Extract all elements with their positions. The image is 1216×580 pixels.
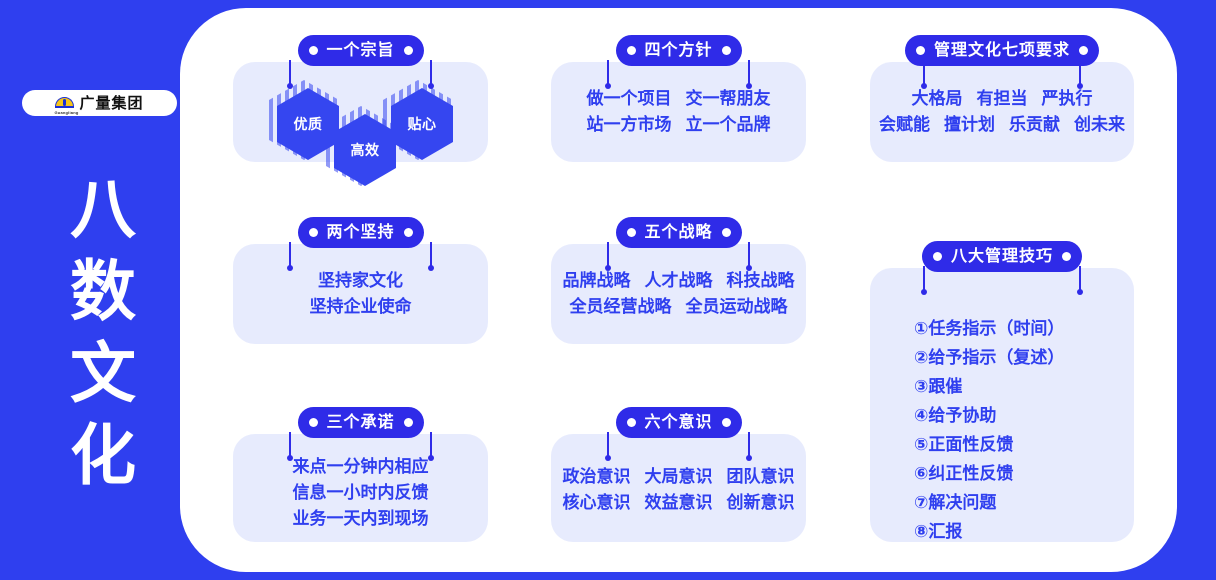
card-text: 科技战略 bbox=[727, 271, 795, 290]
card-title-label: 管理文化七项要求 bbox=[934, 43, 1070, 59]
brand-wordmark: 广量集团 bbox=[79, 96, 143, 111]
card-text: 创新意识 bbox=[727, 493, 795, 512]
badge-dot-right-icon bbox=[722, 228, 731, 237]
card-line: 来点一分钟内相应 bbox=[233, 454, 488, 480]
page-title-char-4: 化 bbox=[58, 414, 148, 496]
badge-dot-left-icon bbox=[626, 418, 635, 427]
card-title-label: 三个承诺 bbox=[326, 415, 394, 431]
badge-dot-right-icon bbox=[404, 418, 413, 427]
badge-dot-right-icon bbox=[1062, 252, 1071, 261]
card-title-six-awarenesses[interactable]: 六个意识 bbox=[615, 407, 741, 438]
list-item: ⑧汇报 bbox=[914, 517, 1064, 546]
card-line: 品牌战略人才战略科技战略 bbox=[551, 268, 806, 294]
logo-subtext: Guangliang bbox=[54, 110, 78, 115]
badge-dot-left-icon bbox=[626, 46, 635, 55]
connector-right bbox=[430, 60, 432, 86]
card-text: 坚持家文化 bbox=[318, 271, 403, 290]
list-item: ④给予协助 bbox=[914, 401, 1064, 430]
card-title-label: 五个战略 bbox=[644, 225, 712, 241]
card-two-persistences[interactable]: 两个坚持 坚持家文化 坚持企业使命 bbox=[233, 244, 488, 344]
card-three-promises[interactable]: 三个承诺 来点一分钟内相应 信息一小时内反馈 业务一天内到现场 bbox=[233, 434, 488, 542]
card-line: 业务一天内到现场 bbox=[233, 506, 488, 532]
connector-right bbox=[748, 60, 750, 86]
card-body: 政治意识大局意识团队意识 核心意识效益意识创新意识 bbox=[551, 464, 806, 516]
card-title-two-persistences[interactable]: 两个坚持 bbox=[297, 217, 423, 248]
connector-right bbox=[748, 242, 750, 268]
card-line: 站一方市场立一个品牌 bbox=[551, 112, 806, 138]
card-text: 全员运动战略 bbox=[686, 297, 788, 316]
card-line: 信息一小时内反馈 bbox=[233, 480, 488, 506]
numbered-list: ①任务指示（时间） ②给予指示（复述） ③跟催 ④给予协助 ⑤正面性反馈 ⑥纠正… bbox=[914, 314, 1064, 546]
connector-right bbox=[1079, 266, 1081, 292]
connector-left bbox=[607, 432, 609, 458]
badge-dot-right-icon bbox=[722, 46, 731, 55]
card-title-label: 两个坚持 bbox=[326, 225, 394, 241]
card-text: 业务一天内到现场 bbox=[293, 509, 429, 528]
dome-logo-icon: Guangliang bbox=[55, 96, 74, 111]
card-text: 信息一小时内反馈 bbox=[293, 483, 429, 502]
card-line: 政治意识大局意识团队意识 bbox=[551, 464, 806, 490]
list-item: ⑥纠正性反馈 bbox=[914, 459, 1064, 488]
connector-left bbox=[289, 60, 291, 86]
card-body: 大格局有担当严执行 会赋能擅计划乐贡献创未来 bbox=[870, 86, 1134, 138]
content-panel: 一个宗旨 优质 高效 贴心 四个方针 bbox=[180, 8, 1177, 572]
page-title: 八 数 文 化 bbox=[58, 168, 148, 496]
card-one-purpose[interactable]: 一个宗旨 优质 高效 贴心 bbox=[233, 62, 488, 162]
connector-right bbox=[748, 432, 750, 458]
card-line: 坚持家文化 bbox=[233, 268, 488, 294]
connector-left bbox=[289, 432, 291, 458]
badge-dot-right-icon bbox=[404, 228, 413, 237]
card-line: 做一个项目交一帮朋友 bbox=[551, 86, 806, 112]
card-body: 坚持家文化 坚持企业使命 bbox=[233, 268, 488, 320]
list-item: ①任务指示（时间） bbox=[914, 314, 1064, 343]
page-title-char-1: 八 bbox=[58, 168, 148, 250]
card-five-strategies[interactable]: 五个战略 品牌战略人才战略科技战略 全员经营战略全员运动战略 bbox=[551, 244, 806, 344]
card-text: 站一方市场 bbox=[587, 115, 672, 134]
card-line: 核心意识效益意识创新意识 bbox=[551, 490, 806, 516]
page-title-char-3: 文 bbox=[58, 332, 148, 414]
card-title-label: 六个意识 bbox=[644, 415, 712, 431]
card-title-four-guidelines[interactable]: 四个方针 bbox=[615, 35, 741, 66]
badge-dot-left-icon bbox=[308, 228, 317, 237]
card-title-three-promises[interactable]: 三个承诺 bbox=[297, 407, 423, 438]
card-text: 乐贡献 bbox=[1009, 115, 1060, 134]
connector-left bbox=[607, 60, 609, 86]
connector-left bbox=[607, 242, 609, 268]
card-line: 全员经营战略全员运动战略 bbox=[551, 294, 806, 320]
badge-dot-left-icon bbox=[308, 418, 317, 427]
card-body: 做一个项目交一帮朋友 站一方市场立一个品牌 bbox=[551, 86, 806, 138]
card-text: 交一帮朋友 bbox=[686, 89, 771, 108]
badge-dot-left-icon bbox=[626, 228, 635, 237]
card-four-guidelines[interactable]: 四个方针 做一个项目交一帮朋友 站一方市场立一个品牌 bbox=[551, 62, 806, 162]
connector-left bbox=[923, 266, 925, 292]
connector-right bbox=[430, 242, 432, 268]
connector-right bbox=[430, 432, 432, 458]
list-item: ②给予指示（复述） bbox=[914, 343, 1064, 372]
badge-dot-left-icon bbox=[933, 252, 942, 261]
card-text: 来点一分钟内相应 bbox=[293, 457, 429, 476]
card-text: 效益意识 bbox=[645, 493, 713, 512]
connector-left bbox=[289, 242, 291, 268]
card-title-eight-skills[interactable]: 八大管理技巧 bbox=[922, 241, 1082, 272]
card-text: 大局意识 bbox=[645, 467, 713, 486]
card-title-seven-requirements[interactable]: 管理文化七项要求 bbox=[905, 35, 1099, 66]
card-six-awarenesses[interactable]: 六个意识 政治意识大局意识团队意识 核心意识效益意识创新意识 bbox=[551, 434, 806, 542]
card-text: 政治意识 bbox=[563, 467, 631, 486]
card-text: 会赋能 bbox=[879, 115, 930, 134]
card-title-five-strategies[interactable]: 五个战略 bbox=[615, 217, 741, 248]
badge-dot-left-icon bbox=[916, 46, 925, 55]
card-text: 有担当 bbox=[977, 89, 1028, 108]
card-text: 创未来 bbox=[1074, 115, 1125, 134]
card-text: 严执行 bbox=[1042, 89, 1093, 108]
badge-dot-left-icon bbox=[308, 46, 317, 55]
brand-logo: Guangliang 广量集团 bbox=[22, 90, 177, 116]
card-text: 团队意识 bbox=[727, 467, 795, 486]
card-seven-requirements[interactable]: 管理文化七项要求 大格局有担当严执行 会赋能擅计划乐贡献创未来 bbox=[870, 62, 1134, 162]
list-item: ⑤正面性反馈 bbox=[914, 430, 1064, 459]
card-text: 人才战略 bbox=[645, 271, 713, 290]
page-title-char-2: 数 bbox=[58, 250, 148, 332]
card-text: 全员经营战略 bbox=[570, 297, 672, 316]
hexagon-row: 优质 高效 贴心 bbox=[233, 90, 488, 190]
card-text: 做一个项目 bbox=[587, 89, 672, 108]
card-text: 品牌战略 bbox=[563, 271, 631, 290]
card-text: 核心意识 bbox=[563, 493, 631, 512]
card-body: 品牌战略人才战略科技战略 全员经营战略全员运动战略 bbox=[551, 268, 806, 320]
badge-dot-right-icon bbox=[1079, 46, 1088, 55]
card-title-label: 一个宗旨 bbox=[326, 43, 394, 59]
card-eight-skills[interactable]: 八大管理技巧 ①任务指示（时间） ②给予指示（复述） ③跟催 ④给予协助 ⑤正面… bbox=[870, 268, 1134, 542]
card-title-one-purpose[interactable]: 一个宗旨 bbox=[297, 35, 423, 66]
card-line: 坚持企业使命 bbox=[233, 294, 488, 320]
card-title-label: 四个方针 bbox=[644, 43, 712, 59]
card-line: 会赋能擅计划乐贡献创未来 bbox=[870, 112, 1134, 138]
badge-dot-right-icon bbox=[404, 46, 413, 55]
list-item: ③跟催 bbox=[914, 372, 1064, 401]
badge-dot-right-icon bbox=[722, 418, 731, 427]
card-line: 大格局有担当严执行 bbox=[870, 86, 1134, 112]
list-item: ⑦解决问题 bbox=[914, 488, 1064, 517]
card-title-label: 八大管理技巧 bbox=[951, 249, 1053, 265]
card-text: 坚持企业使命 bbox=[310, 297, 412, 316]
card-body: 来点一分钟内相应 信息一小时内反馈 业务一天内到现场 bbox=[233, 454, 488, 532]
card-text: 大格局 bbox=[912, 89, 963, 108]
card-text: 擅计划 bbox=[944, 115, 995, 134]
card-text: 立一个品牌 bbox=[686, 115, 771, 134]
